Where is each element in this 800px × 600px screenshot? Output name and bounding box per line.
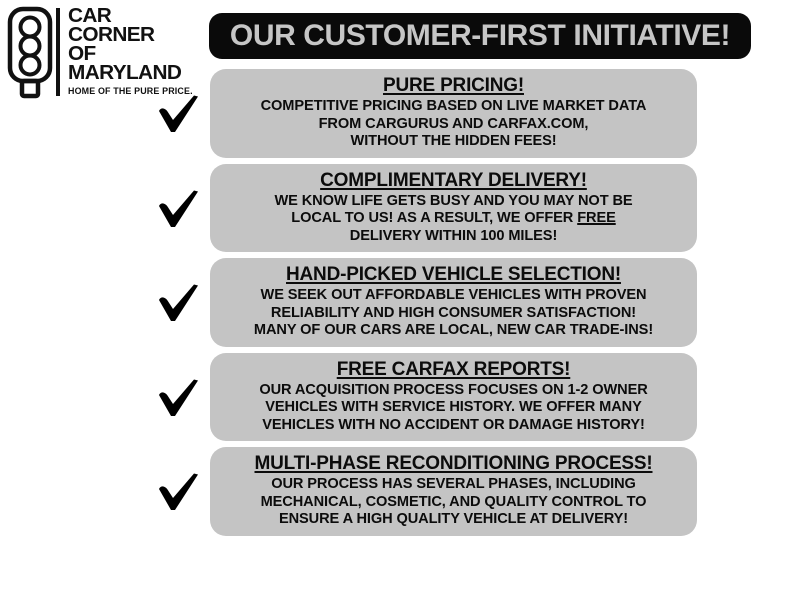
card-body: OUR PROCESS HAS SEVERAL PHASES, INCLUDIN… [220, 476, 687, 529]
card-body-line: MECHANICAL, COSMETIC, AND QUALITY CONTRO… [220, 494, 687, 512]
benefit-card: HAND-PICKED VEHICLE SELECTION! WE SEEK O… [210, 258, 697, 347]
logo-divider [56, 8, 60, 96]
card-body: WE KNOW LIFE GETS BUSY AND YOU MAY NOT B… [220, 193, 687, 246]
traffic-light-icon [6, 6, 54, 102]
card-body-line: FROM CARGURUS AND CARFAX.COM, [220, 116, 687, 134]
checkmark-icon [153, 278, 205, 326]
brand-logo: CAR CORNER OF MARYLAND HOME OF THE PURE … [6, 6, 201, 104]
card-body-line: ENSURE A HIGH QUALITY VEHICLE AT DELIVER… [220, 511, 687, 529]
card-body-line-underlined: LOCAL TO US! AS A RESULT, WE OFFER FREE [220, 210, 687, 228]
card-body-line: MANY OF OUR CARS ARE LOCAL, NEW CAR TRAD… [220, 322, 687, 340]
list-item: MULTI-PHASE RECONDITIONING PROCESS! OUR … [210, 447, 697, 536]
card-body-line: OUR PROCESS HAS SEVERAL PHASES, INCLUDIN… [220, 476, 687, 494]
card-body: WE SEEK OUT AFFORDABLE VEHICLES WITH PRO… [220, 287, 687, 340]
card-body-line: WITHOUT THE HIDDEN FEES! [220, 133, 687, 151]
benefit-card: COMPLIMENTARY DELIVERY! WE KNOW LIFE GET… [210, 164, 697, 253]
card-body-line: DELIVERY WITHIN 100 MILES! [220, 228, 687, 246]
checkmark-icon [153, 373, 205, 421]
list-item: COMPLIMENTARY DELIVERY! WE KNOW LIFE GET… [210, 164, 697, 253]
card-title: MULTI-PHASE RECONDITIONING PROCESS! [220, 452, 687, 475]
card-body-line: RELIABILITY AND HIGH CONSUMER SATISFACTI… [220, 305, 687, 323]
list-item: PURE PRICING! COMPETITIVE PRICING BASED … [210, 69, 697, 158]
list-item: FREE CARFAX REPORTS! OUR ACQUISITION PRO… [210, 353, 697, 442]
logo-line-4: MARYLAND [68, 64, 181, 83]
card-title: FREE CARFAX REPORTS! [220, 358, 687, 381]
card-body-line: VEHICLES WITH SERVICE HISTORY. WE OFFER … [220, 399, 687, 417]
card-body: OUR ACQUISITION PROCESS FOCUSES ON 1-2 O… [220, 382, 687, 435]
card-title: PURE PRICING! [220, 74, 687, 97]
page-header-banner: OUR CUSTOMER-FIRST INITIATIVE! [209, 13, 751, 59]
benefit-card: PURE PRICING! COMPETITIVE PRICING BASED … [210, 69, 697, 158]
logo-wordmark: CAR CORNER OF MARYLAND HOME OF THE PURE … [68, 7, 194, 97]
logo-tagline: HOME OF THE PURE PRICE. [68, 86, 193, 97]
page-title: OUR CUSTOMER-FIRST INITIATIVE! [230, 19, 730, 53]
benefit-card: MULTI-PHASE RECONDITIONING PROCESS! OUR … [210, 447, 697, 536]
benefits-list: PURE PRICING! COMPETITIVE PRICING BASED … [210, 69, 697, 542]
list-item: HAND-PICKED VEHICLE SELECTION! WE SEEK O… [210, 258, 697, 347]
card-title: HAND-PICKED VEHICLE SELECTION! [220, 263, 687, 286]
card-body-line: WE KNOW LIFE GETS BUSY AND YOU MAY NOT B… [220, 193, 687, 211]
checkmark-icon [153, 184, 205, 232]
card-body: COMPETITIVE PRICING BASED ON LIVE MARKET… [220, 98, 687, 151]
card-title: COMPLIMENTARY DELIVERY! [220, 169, 687, 192]
card-body-line: COMPETITIVE PRICING BASED ON LIVE MARKET… [220, 98, 687, 116]
benefit-card: FREE CARFAX REPORTS! OUR ACQUISITION PRO… [210, 353, 697, 442]
card-body-line: VEHICLES WITH NO ACCIDENT OR DAMAGE HIST… [220, 417, 687, 435]
checkmark-icon [153, 467, 205, 515]
card-body-line: WE SEEK OUT AFFORDABLE VEHICLES WITH PRO… [220, 287, 687, 305]
card-body-line: OUR ACQUISITION PROCESS FOCUSES ON 1-2 O… [220, 382, 687, 400]
